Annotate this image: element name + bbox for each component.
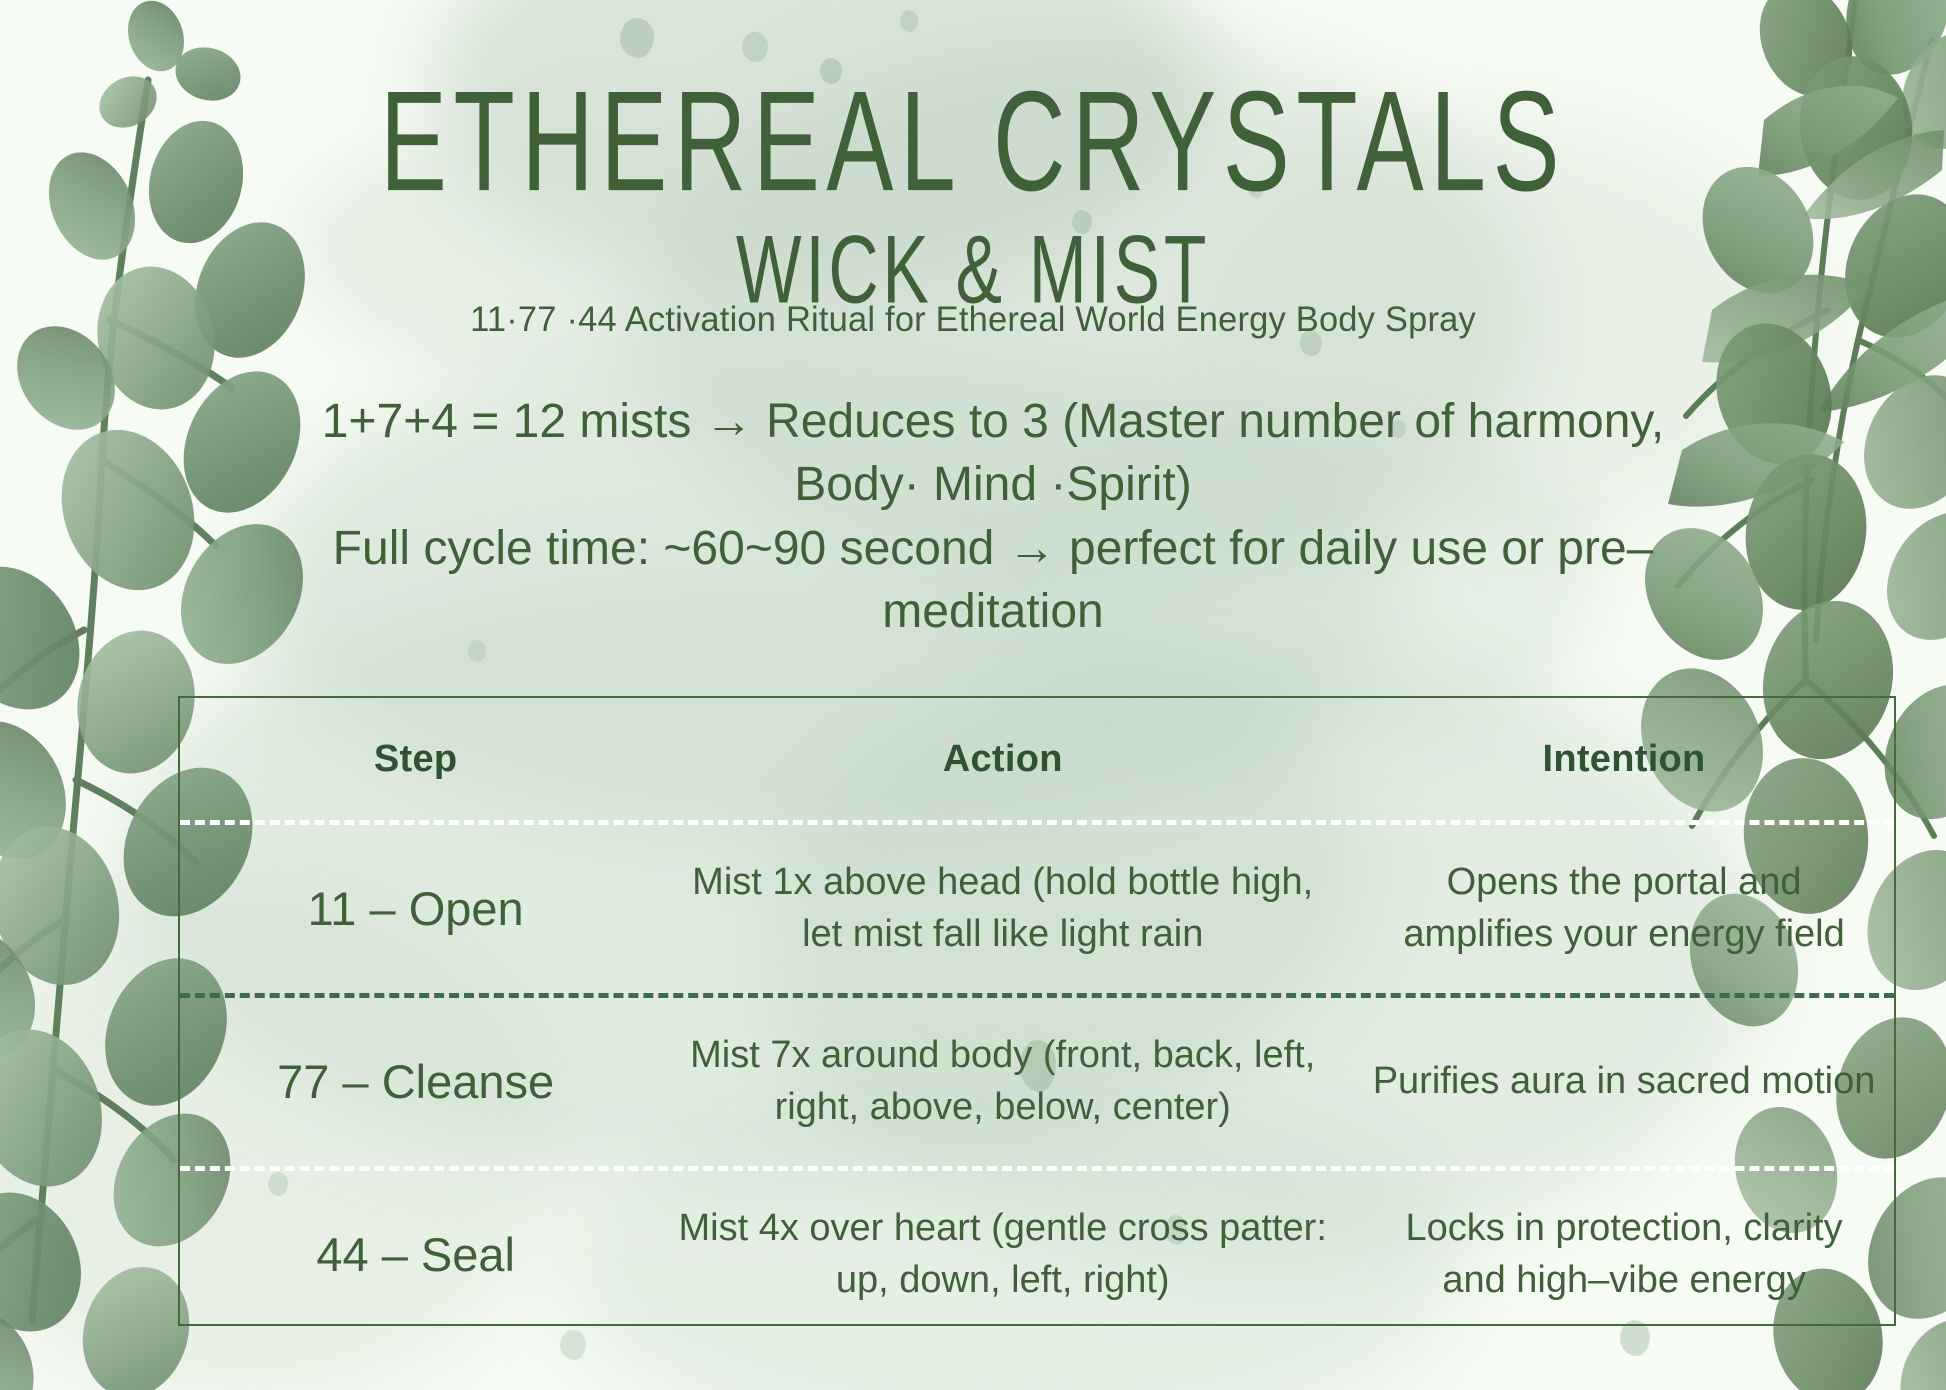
row-intention: Purifies aura in sacred motion <box>1354 1056 1894 1108</box>
row-step: 11 – Open <box>180 881 651 936</box>
row-action: Mist 4x over heart (gentle cross patter:… <box>651 1203 1354 1306</box>
row-step: 77 – Cleanse <box>180 1054 651 1109</box>
row-step: 44 – Seal <box>180 1227 651 1282</box>
tagline: 11·77 ·44 Activation Ritual for Ethereal… <box>15 300 1932 340</box>
lead-line-2: Full cycle time: ~60~90 second → perfect… <box>300 517 1686 644</box>
poster-header: ETHEREAL CRYSTALS WICK & MIST <box>0 0 1946 296</box>
column-header-step: Step <box>180 738 651 781</box>
ritual-table: Step Action Intention 11 – Open Mist 1x … <box>178 696 1896 1326</box>
row-intention: Locks in protection, clarity and high–vi… <box>1354 1203 1894 1306</box>
table-row: 11 – Open Mist 1x above head (hold bottl… <box>180 825 1894 993</box>
row-intention: Opens the portal and amplifies your ener… <box>1354 857 1894 960</box>
table-row: 44 – Seal Mist 4x over heart (gentle cro… <box>180 1171 1894 1339</box>
lead-paragraph: 1+7+4 = 12 mists → Reduces to 3 (Master … <box>300 390 1686 643</box>
lead-line-1: 1+7+4 = 12 mists → Reduces to 3 (Master … <box>300 390 1686 517</box>
column-header-action: Action <box>651 738 1354 781</box>
column-header-intention: Intention <box>1354 738 1894 781</box>
poster-canvas: ETHEREAL CRYSTALS WICK & MIST 11·77 ·44 … <box>0 0 1946 1390</box>
table-row: 77 – Cleanse Mist 7x around body (front,… <box>180 998 1894 1166</box>
row-action: Mist 7x around body (front, back, left, … <box>651 1030 1354 1133</box>
page-title: ETHEREAL CRYSTALS <box>68 70 1878 213</box>
row-action: Mist 1x above head (hold bottle high, le… <box>651 857 1354 960</box>
table-header-row: Step Action Intention <box>180 698 1894 820</box>
